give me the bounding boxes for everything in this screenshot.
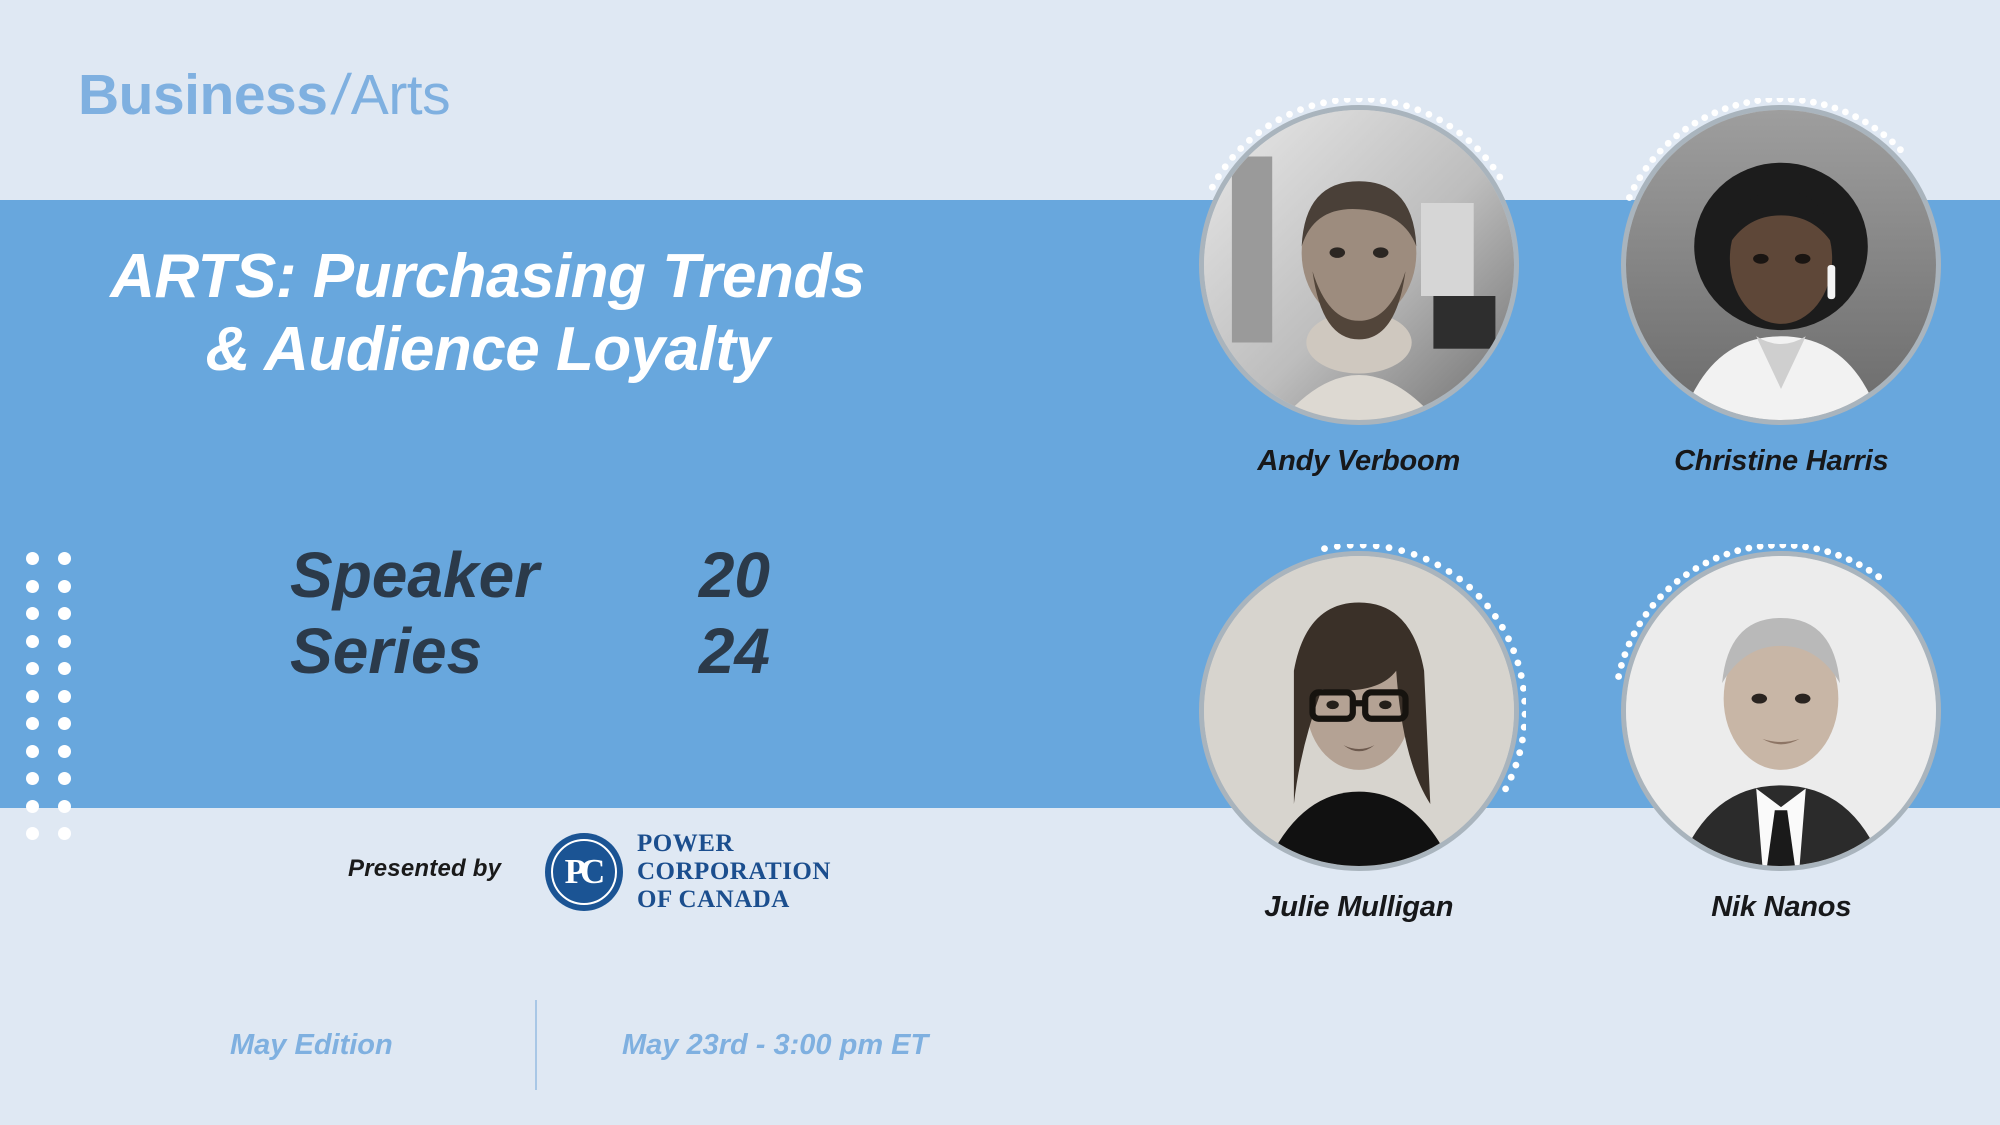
- brand-name-left: Business: [78, 63, 327, 127]
- sponsor-logo: PC POWER CORPORATION OF CANADA: [545, 830, 831, 914]
- sponsor-name-line1: POWER: [637, 830, 831, 858]
- presented-by-label: Presented by: [348, 855, 501, 883]
- speaker-grid: Andy Verboom Christine Harris Julie Mull…: [1175, 105, 1965, 965]
- sponsor-name-line2: CORPORATION: [637, 858, 831, 886]
- decorative-dot: [58, 827, 71, 840]
- decorative-dot: [26, 690, 39, 703]
- speaker-name: Andy Verboom: [1257, 445, 1460, 478]
- brand-name-right: Arts: [351, 63, 450, 127]
- page-title-line1: ARTS: Purchasing Trends: [110, 242, 864, 311]
- series-year-line1: 20: [660, 538, 770, 614]
- decorative-dot: [58, 662, 71, 675]
- brand-logo: Business/Arts: [78, 62, 450, 128]
- decorative-dot: [58, 607, 71, 620]
- decorative-dot: [58, 635, 71, 648]
- decorative-dot: [58, 552, 71, 565]
- speaker-avatar: [1621, 551, 1941, 871]
- series-year-line2: 24: [660, 614, 770, 690]
- event-datetime: May 23rd - 3:00 pm ET: [622, 1029, 928, 1062]
- series-label-line1: Speaker: [290, 538, 539, 614]
- monogram-text: PC: [565, 852, 600, 892]
- decorative-dot: [58, 580, 71, 593]
- footer-divider: [535, 1000, 537, 1090]
- speaker-name: Christine Harris: [1674, 445, 1888, 478]
- speaker-avatar: [1621, 105, 1941, 425]
- decorative-dot: [26, 827, 39, 840]
- decorative-dot: [26, 800, 39, 813]
- speaker-card: Julie Mulligan: [1175, 551, 1543, 965]
- decorative-dot: [26, 662, 39, 675]
- event-poster: Business/Arts ARTS: Purchasing Trends & …: [0, 0, 2000, 1125]
- decorative-dot: [26, 635, 39, 648]
- speaker-card: Nik Nanos: [1598, 551, 1966, 965]
- decorative-dot: [58, 800, 71, 813]
- speaker-name: Nik Nanos: [1711, 891, 1851, 924]
- brand-slash-icon: /: [329, 62, 354, 128]
- sponsor-name: POWER CORPORATION OF CANADA: [637, 830, 831, 914]
- speaker-photo-wrap: [1199, 105, 1519, 425]
- speaker-card: Andy Verboom: [1175, 105, 1543, 519]
- decorative-dot: [58, 745, 71, 758]
- decorative-dot-column: [16, 545, 80, 845]
- speaker-series-block: Speaker 20 Series 24: [290, 538, 910, 689]
- decorative-dot: [26, 580, 39, 593]
- decorative-dot: [58, 772, 71, 785]
- speaker-avatar: [1199, 105, 1519, 425]
- decorative-dot: [26, 717, 39, 730]
- decorative-dot: [58, 717, 71, 730]
- page-title-line2: & Audience Loyalty: [0, 313, 975, 386]
- decorative-dot: [26, 552, 39, 565]
- speaker-series-row-1: Speaker 20: [290, 538, 770, 614]
- decorative-dot: [26, 745, 39, 758]
- speaker-name: Julie Mulligan: [1264, 891, 1453, 924]
- edition-label: May Edition: [230, 1029, 535, 1062]
- speaker-photo-wrap: [1621, 551, 1941, 871]
- decorative-dot: [26, 772, 39, 785]
- footer-bar: May Edition May 23rd - 3:00 pm ET: [230, 1000, 928, 1090]
- speaker-card: Christine Harris: [1598, 105, 1966, 519]
- power-corporation-monogram-icon: PC: [545, 833, 623, 911]
- sponsor-name-line3: OF CANADA: [637, 886, 831, 914]
- decorative-dot: [58, 690, 71, 703]
- series-label-line2: Series: [290, 614, 482, 690]
- speaker-photo-wrap: [1621, 105, 1941, 425]
- speaker-series-row-2: Series 24: [290, 614, 770, 690]
- speaker-photo-wrap: [1199, 551, 1519, 871]
- speaker-avatar: [1199, 551, 1519, 871]
- decorative-dot: [26, 607, 39, 620]
- page-title: ARTS: Purchasing Trends & Audience Loyal…: [0, 240, 975, 386]
